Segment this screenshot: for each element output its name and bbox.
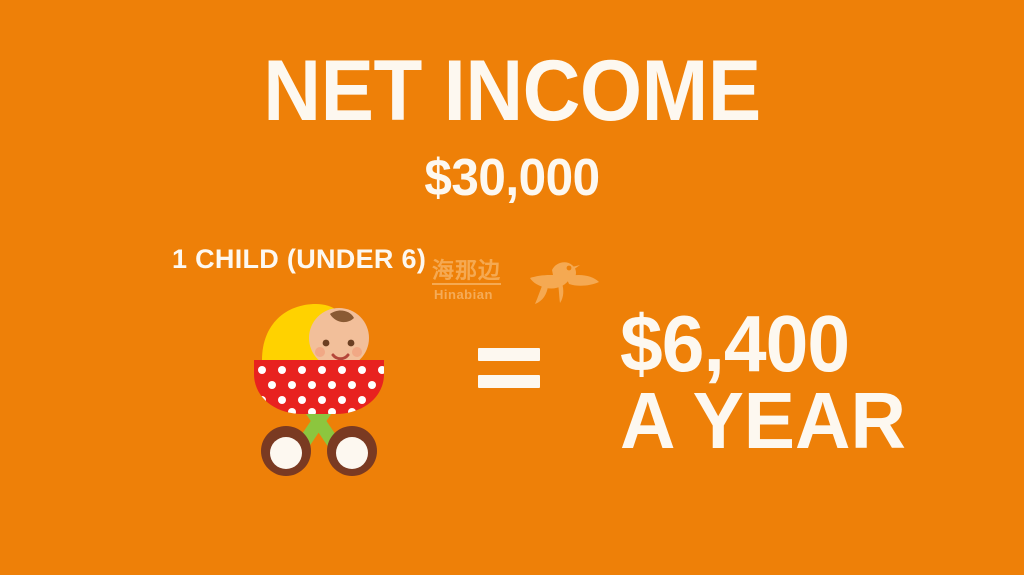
equals-bar-bottom: [478, 375, 540, 388]
stroller-wheels-icon: [261, 426, 377, 476]
equals-icon: [478, 348, 540, 392]
baby-stroller-illustration: [238, 298, 398, 480]
equals-bar-top: [478, 348, 540, 361]
child-count-label: 1 CHILD (UNDER 6): [172, 246, 426, 273]
benefit-amount: $6,400 A YEAR: [620, 306, 906, 460]
benefit-amount-value: $6,400: [620, 299, 849, 388]
baby-face-icon: [309, 308, 369, 368]
page-title: NET INCOME: [36, 48, 988, 134]
infographic-slide: NET INCOME $30,000 1 CHILD (UNDER 6) 海那边…: [0, 0, 1024, 575]
stroller-basket-icon: [254, 360, 386, 416]
benefit-amount-period: A YEAR: [620, 383, 906, 460]
net-income-value: $30,000: [26, 152, 999, 204]
